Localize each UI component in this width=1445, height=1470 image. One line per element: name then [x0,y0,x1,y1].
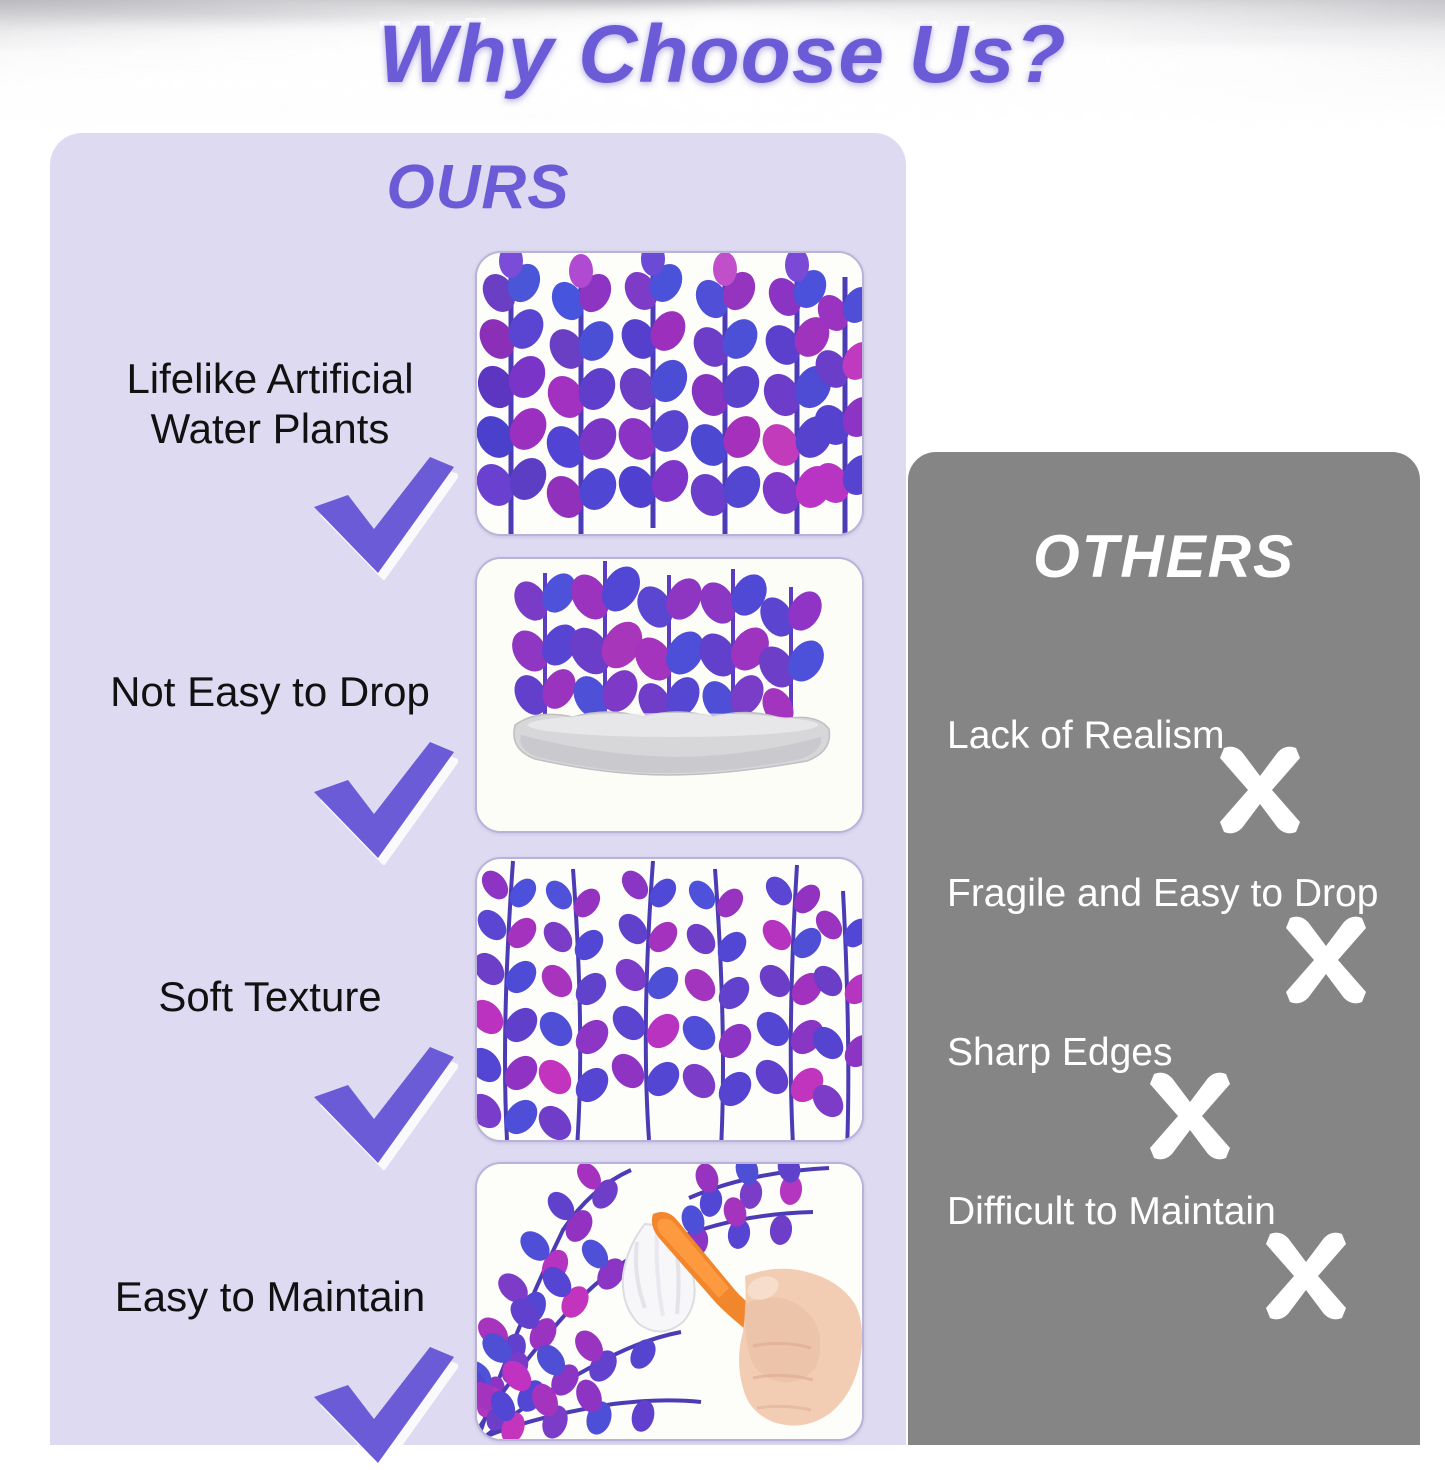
others-heading: OTHERS [908,522,1420,591]
page-title: Why Choose Us? [0,8,1445,102]
others-item-label: Sharp Edges [947,1031,1173,1075]
ours-item-label: Easy to Maintain [70,1272,470,1322]
ours-photo-1 [475,251,864,536]
others-item-label: Difficult to Maintain [947,1190,1276,1234]
ours-item-label: Soft Texture [70,972,470,1022]
plant-with-base-illustration [477,559,862,831]
cross-icon [1142,1068,1238,1164]
ours-item-label-line1: Not Easy to Drop [70,667,470,717]
check-icon [308,1345,458,1470]
plants-soft-texture-illustration [477,859,862,1140]
ours-item-label-line1: Lifelike Artificial [70,354,470,404]
ours-heading: OURS [50,152,906,223]
cleaning-with-brush-illustration [477,1164,862,1439]
plants-dense-illustration [477,253,862,534]
cross-icon [1212,742,1308,838]
cross-icon [1258,1228,1354,1324]
check-icon [308,455,458,580]
cross-icon [1278,912,1374,1008]
ours-item-label: Not Easy to Drop [70,667,470,717]
check-icon [308,1045,458,1170]
others-item-label: Lack of Realism [947,714,1224,758]
others-item-label: Fragile and Easy to Drop [947,872,1378,916]
ours-item-label-line1: Easy to Maintain [70,1272,470,1322]
ours-photo-3 [475,857,864,1142]
ours-photo-2 [475,557,864,833]
ours-item-label-line2: Water Plants [70,404,470,454]
check-icon [308,740,458,865]
ours-item-label: Lifelike Artificial Water Plants [70,354,470,453]
ours-item-label-line1: Soft Texture [70,972,470,1022]
ours-photo-4 [475,1162,864,1441]
